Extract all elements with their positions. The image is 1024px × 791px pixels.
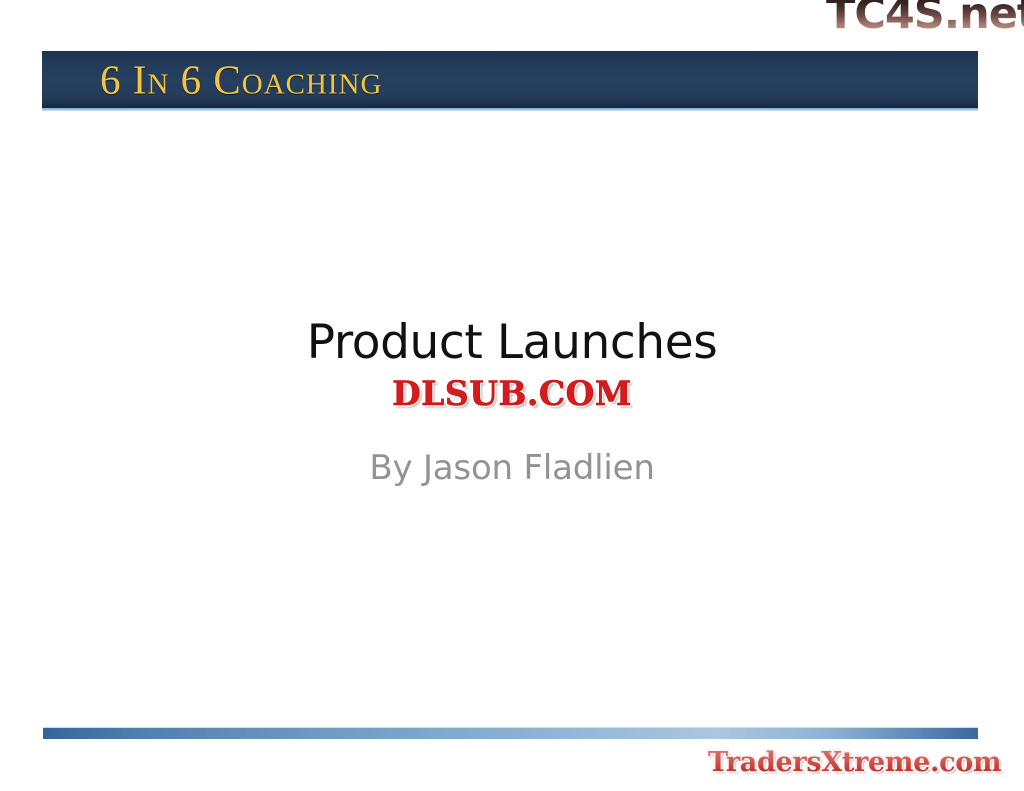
presentation-slide: TC4S.net 6 In 6 Coaching Product Launche… [0,0,1024,791]
slide-banner: 6 In 6 Coaching [42,51,978,108]
dlsub-watermark-text: DLSUB.COM [383,374,641,417]
tradersxtreme-watermark: TradersXtreme.com TradersXtreme.com [708,748,1001,778]
page-subtitle: By Jason Fladlien [0,450,1024,487]
banner-title-text: 6 In 6 Coaching [100,59,382,100]
tc4s-watermark: TC4S.net [826,0,1024,36]
slide-content: Product Launches DLSUB.COM By Jason Flad… [0,0,1024,791]
banner-underline [42,108,978,111]
footer-divider [43,727,978,740]
dlsub-watermark: DLSUB.COM [0,374,1024,416]
page-title: Product Launches [0,318,1024,368]
tradersxtreme-watermark-text: TradersXtreme.com [708,748,1001,778]
